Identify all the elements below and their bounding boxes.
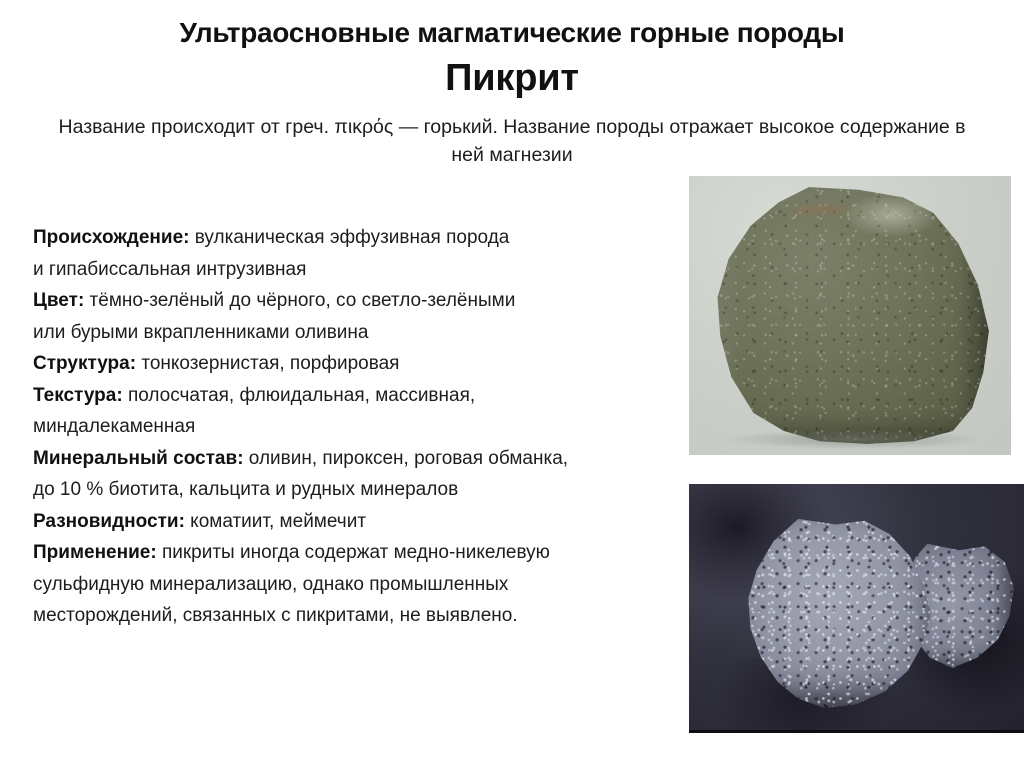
property-line: месторождений, связанных с пикритами, не… xyxy=(33,600,693,632)
property-value: оливин, пироксен, роговая обманка, xyxy=(249,448,568,469)
picrite-outcrop-photo xyxy=(689,484,1024,733)
property-line: Происхождение: вулканическая эффузивная … xyxy=(33,222,693,254)
rock-rust-stain xyxy=(786,201,857,218)
property-label: Структура xyxy=(33,353,130,374)
property-line: миндалекаменная xyxy=(33,411,693,443)
property-value: и гипабиссальная интрузивная xyxy=(33,259,306,280)
property-label: Происхождение xyxy=(33,227,183,248)
property-value: тёмно-зелёный до чёрного, со светло-зелё… xyxy=(90,290,516,311)
property-value: пикриты иногда содержат медно-никелевую xyxy=(162,542,550,563)
property-value: или бурыми вкрапленниками оливина xyxy=(33,322,368,343)
property-line: до 10 % биотита, кальцита и рудных минер… xyxy=(33,474,693,506)
property-separator: : xyxy=(150,542,162,563)
property-line: Применение: пикриты иногда содержат медн… xyxy=(33,537,693,569)
property-line: сульфидную минерализацию, однако промышл… xyxy=(33,569,693,601)
property-line: Структура: тонкозернистая, порфировая xyxy=(33,348,693,380)
property-value: миндалекаменная xyxy=(33,416,195,437)
page-title: Ультраосновные магматические горные поро… xyxy=(0,18,1024,49)
property-separator: : xyxy=(116,385,128,406)
property-label: Применение xyxy=(33,542,150,563)
etymology-paragraph: Название происходит от греч. πικρός — го… xyxy=(52,113,972,170)
property-value: коматиит, меймечит xyxy=(190,511,366,532)
property-value: месторождений, связанных с пикритами, не… xyxy=(33,605,518,626)
property-separator: : xyxy=(78,290,90,311)
property-value: тонкозернистая, порфировая xyxy=(141,353,399,374)
property-line: Разновидности: коматиит, меймечит xyxy=(33,506,693,538)
properties-list: Происхождение: вулканическая эффузивная … xyxy=(33,222,693,632)
property-label: Минеральный состав xyxy=(33,448,237,469)
property-value: до 10 % биотита, кальцита и рудных минер… xyxy=(33,479,458,500)
property-value: вулканическая эффузивная порода xyxy=(195,227,510,248)
property-value: сульфидную минерализацию, однако промышл… xyxy=(33,574,508,595)
rock-name-title: Пикрит xyxy=(0,58,1024,100)
property-separator: : xyxy=(130,353,142,374)
property-label: Цвет xyxy=(33,290,78,311)
property-value: полосчатая, флюидальная, массивная, xyxy=(128,385,475,406)
rock-highlight xyxy=(844,193,941,238)
property-separator: : xyxy=(183,227,195,248)
property-separator: : xyxy=(179,511,191,532)
property-label: Текстура xyxy=(33,385,116,406)
property-line: Минеральный состав: оливин, пироксен, ро… xyxy=(33,443,693,475)
property-line: Текстура: полосчатая, флюидальная, масси… xyxy=(33,380,693,412)
picrite-hand-specimen-photo xyxy=(689,176,1011,455)
property-line: Цвет: тёмно-зелёный до чёрного, со светл… xyxy=(33,285,693,317)
slide-root: Ультраосновные магматические горные поро… xyxy=(0,0,1024,767)
property-line: и гипабиссальная интрузивная xyxy=(33,254,693,286)
property-label: Разновидности xyxy=(33,511,179,532)
property-separator: : xyxy=(237,448,249,469)
property-line: или бурыми вкрапленниками оливина xyxy=(33,317,693,349)
